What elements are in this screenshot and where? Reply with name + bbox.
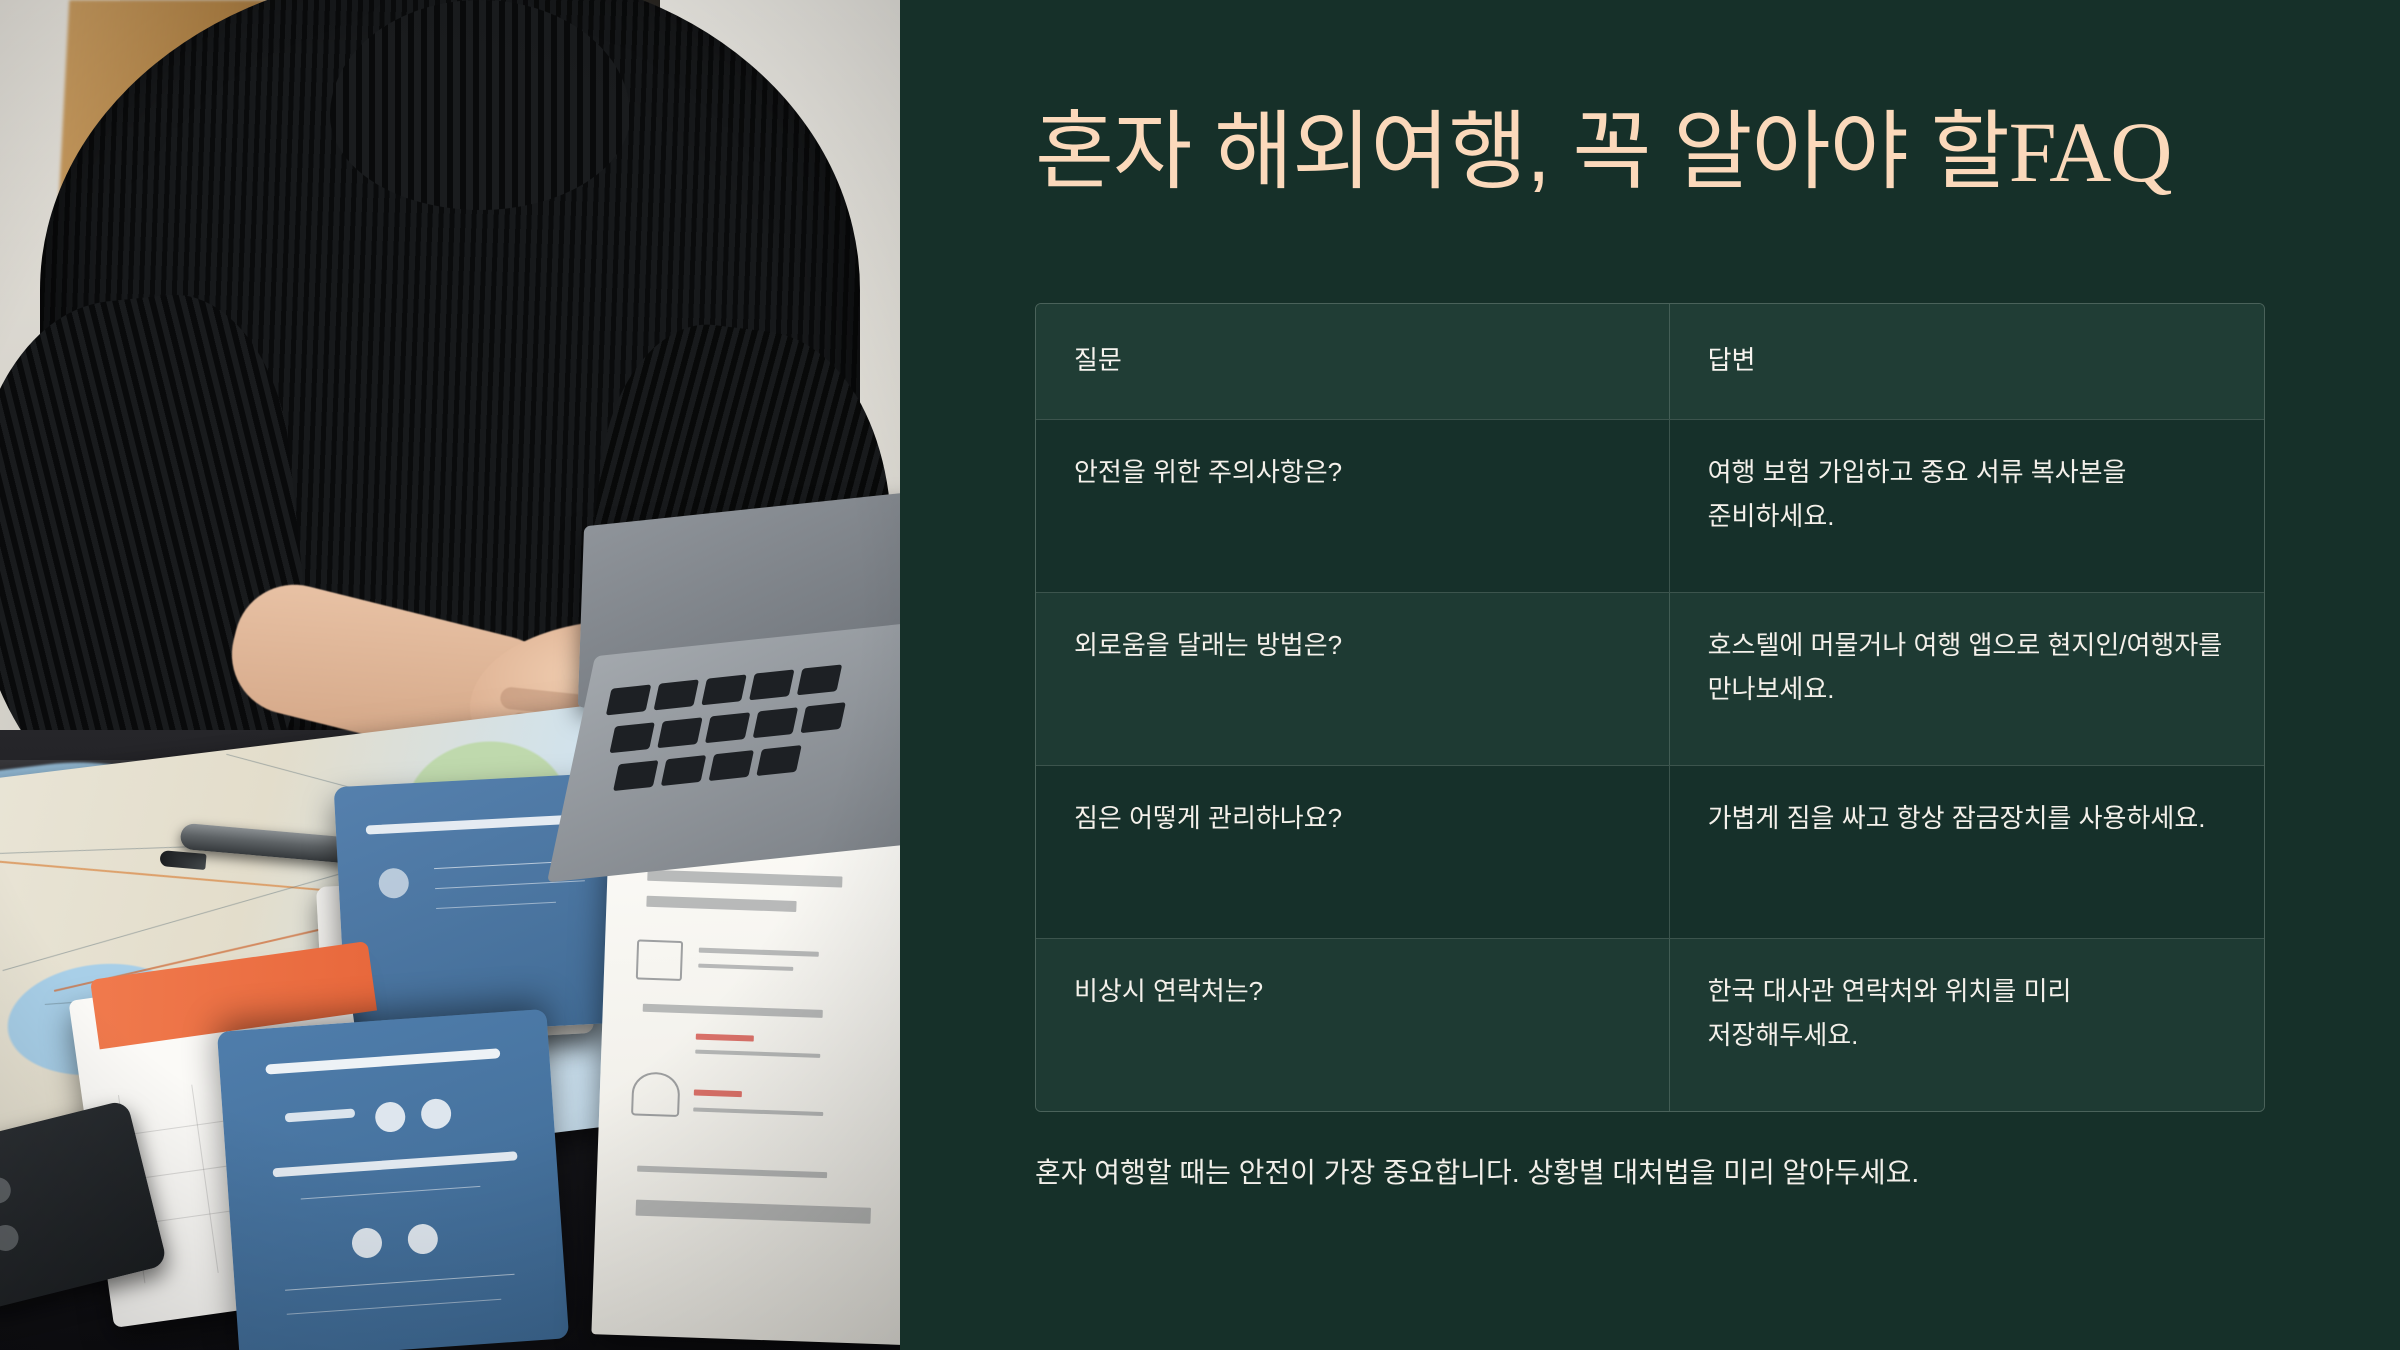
cell-question: 비상시 연락처는? xyxy=(1036,939,1670,1111)
cell-answer: 한국 대사관 연락처와 위치를 미리 저장해두세요. xyxy=(1670,939,2264,1111)
cell-answer: 호스텔에 머물거나 여행 앱으로 현지인/여행자를 만나보세요. xyxy=(1670,593,2264,765)
faq-table: 질문 답변 안전을 위한 주의사항은? 여행 보험 가입하고 중요 서류 복사본… xyxy=(1035,303,2265,1112)
slide-root: 혼자 해외여행, 꼭 알아야 할FAQ 질문 답변 안전을 위한 주의사항은? … xyxy=(0,0,2400,1350)
page-title-korean: 혼자 해외여행, 꼭 알아야 할 xyxy=(1035,104,2009,200)
page-title-latin: FAQ xyxy=(2009,104,2172,200)
cell-question: 외로움을 달래는 방법은? xyxy=(1036,593,1670,765)
content-panel: 혼자 해외여행, 꼭 알아야 할FAQ 질문 답변 안전을 위한 주의사항은? … xyxy=(900,0,2400,1350)
table-row: 안전을 위한 주의사항은? 여행 보험 가입하고 중요 서류 복사본을 준비하세… xyxy=(1036,420,2264,592)
page-title: 혼자 해외여행, 꼭 알아야 할FAQ xyxy=(1035,103,2265,203)
column-header-answer: 답변 xyxy=(1670,304,2264,419)
photo-emergency-information-brochure xyxy=(217,1009,569,1350)
cell-answer: 여행 보험 가입하고 중요 서류 복사본을 준비하세요. xyxy=(1670,420,2264,592)
faq-table-header-row: 질문 답변 xyxy=(1036,304,2264,419)
photo-laptop-keyboard xyxy=(547,618,900,883)
table-row: 외로움을 달래는 방법은? 호스텔에 머물거나 여행 앱으로 현지인/여행자를 … xyxy=(1036,593,2264,765)
cell-question: 안전을 위한 주의사항은? xyxy=(1036,420,1670,592)
photo-emergency-guidebook xyxy=(591,834,900,1345)
column-header-question: 질문 xyxy=(1036,304,1670,419)
cell-question: 짐은 어떻게 관리하나요? xyxy=(1036,766,1670,938)
cell-answer: 가볍게 짐을 싸고 항상 잠금장치를 사용하세요. xyxy=(1670,766,2264,938)
table-row: 짐은 어떻게 관리하나요? 가볍게 짐을 싸고 항상 잠금장치를 사용하세요. xyxy=(1036,766,2264,938)
footer-note: 혼자 여행할 때는 안전이 가장 중요합니다. 상황별 대처법을 미리 알아두세… xyxy=(1035,1152,2295,1194)
travel-desk-photo xyxy=(0,0,900,1350)
table-row: 비상시 연락처는? 한국 대사관 연락처와 위치를 미리 저장해두세요. xyxy=(1036,939,2264,1111)
